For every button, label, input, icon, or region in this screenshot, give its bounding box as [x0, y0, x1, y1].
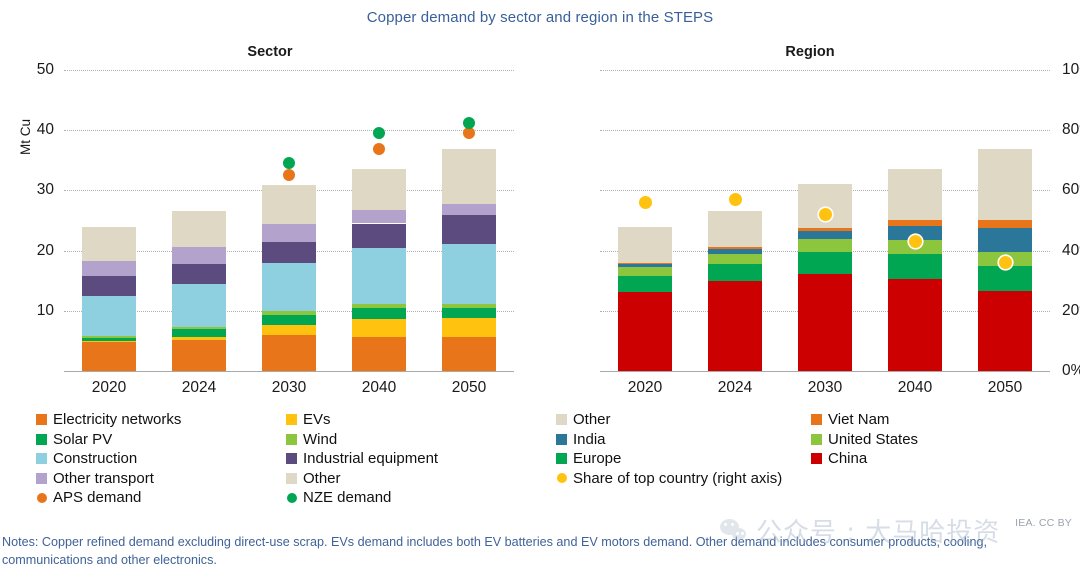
- x-axis-tick: 2050: [960, 379, 1050, 397]
- bar-segment[interactable]: [618, 276, 672, 292]
- legend-label: NZE demand: [303, 490, 391, 505]
- x-axis-tick: 2040: [870, 379, 960, 397]
- legend-label: Wind: [303, 432, 337, 447]
- bar-segment[interactable]: [172, 340, 226, 371]
- x-axis-tick: 2020: [64, 379, 154, 397]
- legend-swatch-icon: [286, 434, 297, 445]
- bar-segment[interactable]: [442, 308, 496, 318]
- right-axis-tick: 100%: [1062, 61, 1080, 79]
- legend-label: Industrial equipment: [303, 451, 438, 466]
- bar-segment[interactable]: [352, 248, 406, 303]
- bar-2030[interactable]: [262, 185, 316, 371]
- gridline: [600, 70, 1050, 71]
- legend-item-electricity-networks[interactable]: Electricity networks: [36, 412, 181, 427]
- bar-segment[interactable]: [82, 342, 136, 371]
- bar-segment[interactable]: [798, 184, 852, 227]
- legend-label: Other: [573, 412, 611, 427]
- legend-item-industrial-equipment[interactable]: Industrial equipment: [286, 451, 438, 466]
- sector-chart-panel: Sector 102030405020202024203020402050 Mt…: [0, 40, 540, 380]
- bar-2050[interactable]: [442, 149, 496, 371]
- bar-segment[interactable]: [262, 242, 316, 263]
- legend-item-china[interactable]: China: [811, 451, 867, 466]
- bar-segment[interactable]: [708, 264, 762, 281]
- gridline: [600, 130, 1050, 131]
- legend-label: India: [573, 432, 606, 447]
- bar-segment[interactable]: [82, 227, 136, 261]
- legend-label: Share of top country (right axis): [573, 471, 782, 486]
- x-axis-tick: 2030: [780, 379, 870, 397]
- marker-dot[interactable]: [283, 157, 295, 169]
- x-axis-tick: 2030: [244, 379, 334, 397]
- bar-segment[interactable]: [442, 215, 496, 244]
- legend-swatch-icon: [556, 434, 567, 445]
- marker-dot[interactable]: [729, 193, 742, 206]
- bar-2020[interactable]: [82, 227, 136, 371]
- bar-segment[interactable]: [798, 274, 852, 371]
- x-axis-tick: 2050: [424, 379, 514, 397]
- legend-item-viet-nam[interactable]: Viet Nam: [811, 412, 889, 427]
- legend-item-construction[interactable]: Construction: [36, 451, 137, 466]
- bar-segment[interactable]: [798, 252, 852, 274]
- right-axis-tick: 80%: [1062, 121, 1080, 139]
- bar-segment[interactable]: [618, 292, 672, 371]
- region-chart-panel: Region 0%20%40%60%80%100%202020242030204…: [540, 40, 1080, 380]
- bar-segment[interactable]: [262, 315, 316, 325]
- region-plot-area: 0%20%40%60%80%100%20202024203020402050: [600, 70, 1050, 371]
- legend-label: Europe: [573, 451, 621, 466]
- x-axis-tick: 2020: [600, 379, 690, 397]
- legend-label: Other transport: [53, 471, 154, 486]
- legend-swatch-icon: [36, 414, 47, 425]
- legend-swatch-icon: [36, 453, 47, 464]
- bar-segment[interactable]: [442, 149, 496, 203]
- bar-2024[interactable]: [172, 211, 226, 371]
- legend-swatch-icon: [286, 414, 297, 425]
- bar-2020[interactable]: [618, 227, 672, 371]
- legend-label: EVs: [303, 412, 331, 427]
- y-axis-tick: 30: [12, 181, 54, 199]
- legend-swatch-icon: [36, 434, 47, 445]
- legend-dot-icon: [557, 473, 567, 483]
- bar-segment[interactable]: [978, 291, 1032, 371]
- bar-segment[interactable]: [888, 254, 942, 279]
- legend-dot-icon: [37, 493, 47, 503]
- legend-item-europe[interactable]: Europe: [556, 451, 621, 466]
- bar-segment[interactable]: [262, 325, 316, 335]
- legend-swatch-icon: [36, 473, 47, 484]
- bar-segment[interactable]: [262, 185, 316, 224]
- bar-segment[interactable]: [978, 220, 1032, 228]
- legend-item-other[interactable]: Other: [286, 471, 341, 486]
- y-axis-tick: 10: [12, 302, 54, 320]
- region-legend: OtherViet NamIndiaUnited StatesEuropeChi…: [556, 412, 1066, 508]
- bar-segment[interactable]: [978, 266, 1032, 291]
- marker-dot[interactable]: [639, 196, 652, 209]
- legend-swatch-icon: [286, 473, 297, 484]
- marker-dot[interactable]: [283, 169, 295, 181]
- legend-item-share-of-top-country-right-axis[interactable]: Share of top country (right axis): [556, 471, 782, 486]
- right-axis-tick: 0%: [1062, 362, 1080, 380]
- bar-segment[interactable]: [262, 335, 316, 371]
- bar-segment[interactable]: [618, 267, 672, 276]
- bar-segment[interactable]: [442, 244, 496, 304]
- region-chart-title: Region: [540, 44, 1080, 60]
- right-axis-tick: 40%: [1062, 242, 1080, 260]
- legend-swatch-icon: [556, 453, 567, 464]
- bar-segment[interactable]: [352, 337, 406, 371]
- bar-segment[interactable]: [352, 319, 406, 336]
- legend-label: Construction: [53, 451, 137, 466]
- page-title: Copper demand by sector and region in th…: [0, 9, 1080, 26]
- legend-item-india[interactable]: India: [556, 432, 606, 447]
- bar-segment[interactable]: [172, 329, 226, 337]
- bar-segment[interactable]: [978, 228, 1032, 251]
- gridline: [64, 70, 514, 71]
- legend-item-other-transport[interactable]: Other transport: [36, 471, 154, 486]
- bar-segment[interactable]: [172, 211, 226, 247]
- marker-dot[interactable]: [819, 208, 832, 221]
- x-axis-tick: 2040: [334, 379, 424, 397]
- x-axis-tick: 2024: [690, 379, 780, 397]
- x-axis-line: [64, 371, 514, 372]
- bar-segment[interactable]: [708, 254, 762, 264]
- bar-segment[interactable]: [82, 296, 136, 336]
- bar-segment[interactable]: [442, 337, 496, 371]
- x-axis-line: [600, 371, 1050, 372]
- legend-swatch-icon: [556, 414, 567, 425]
- right-axis-tick: 60%: [1062, 181, 1080, 199]
- bar-segment[interactable]: [708, 211, 762, 247]
- legend-swatch-icon: [286, 453, 297, 464]
- bar-segment[interactable]: [82, 276, 136, 295]
- bar-segment[interactable]: [352, 308, 406, 319]
- y-axis-tick: 20: [12, 242, 54, 260]
- legend-label: China: [828, 451, 867, 466]
- iea-credit: IEA. CC BY: [1015, 517, 1072, 529]
- sector-y-axis-label: Mt Cu: [18, 119, 33, 155]
- bar-segment[interactable]: [798, 231, 852, 239]
- legend-label: Other: [303, 471, 341, 486]
- legend-swatch-icon: [811, 453, 822, 464]
- bar-segment[interactable]: [442, 318, 496, 337]
- legend-label: APS demand: [53, 490, 141, 505]
- bar-segment[interactable]: [172, 247, 226, 264]
- bar-2040[interactable]: [352, 169, 406, 371]
- bar-segment[interactable]: [888, 169, 942, 221]
- legend-item-united-states[interactable]: United States: [811, 432, 918, 447]
- bar-segment[interactable]: [352, 224, 406, 249]
- y-axis-tick: 50: [12, 61, 54, 79]
- marker-dot[interactable]: [373, 143, 385, 155]
- legend-item-wind[interactable]: Wind: [286, 432, 337, 447]
- right-axis-tick: 20%: [1062, 302, 1080, 320]
- legend-label: Viet Nam: [828, 412, 889, 427]
- bar-segment[interactable]: [172, 264, 226, 284]
- marker-dot[interactable]: [373, 127, 385, 139]
- sector-chart-title: Sector: [0, 44, 540, 60]
- notes-text: Notes: Copper refined demand excluding d…: [2, 534, 1062, 570]
- legend-item-aps-demand[interactable]: APS demand: [36, 490, 141, 505]
- bar-segment[interactable]: [352, 169, 406, 210]
- bar-segment[interactable]: [708, 281, 762, 371]
- marker-dot[interactable]: [909, 235, 922, 248]
- legend-item-solar-pv[interactable]: Solar PV: [36, 432, 112, 447]
- x-axis-tick: 2024: [154, 379, 244, 397]
- legend-item-nze-demand[interactable]: NZE demand: [286, 490, 391, 505]
- bar-segment[interactable]: [798, 239, 852, 252]
- bar-segment[interactable]: [82, 261, 136, 277]
- bar-2024[interactable]: [708, 211, 762, 371]
- legend-swatch-icon: [811, 414, 822, 425]
- bar-segment[interactable]: [888, 279, 942, 371]
- marker-dot[interactable]: [999, 256, 1012, 269]
- bar-segment[interactable]: [262, 263, 316, 312]
- bar-2040[interactable]: [888, 169, 942, 371]
- legend-label: United States: [828, 432, 918, 447]
- bar-segment[interactable]: [978, 149, 1032, 219]
- bar-segment[interactable]: [262, 224, 316, 241]
- legend-item-evs[interactable]: EVs: [286, 412, 331, 427]
- bar-segment[interactable]: [442, 204, 496, 215]
- legend-label: Solar PV: [53, 432, 112, 447]
- legend-swatch-icon: [811, 434, 822, 445]
- legend-item-other[interactable]: Other: [556, 412, 611, 427]
- bar-segment[interactable]: [172, 284, 226, 327]
- bar-segment[interactable]: [352, 210, 406, 224]
- legend-label: Electricity networks: [53, 412, 181, 427]
- sector-plot-area: 102030405020202024203020402050: [64, 70, 514, 371]
- marker-dot[interactable]: [463, 117, 475, 129]
- gridline: [64, 130, 514, 131]
- legend-dot-icon: [287, 493, 297, 503]
- sector-legend: Electricity networksEVsSolar PVWindConst…: [36, 412, 536, 508]
- bar-segment[interactable]: [618, 227, 672, 264]
